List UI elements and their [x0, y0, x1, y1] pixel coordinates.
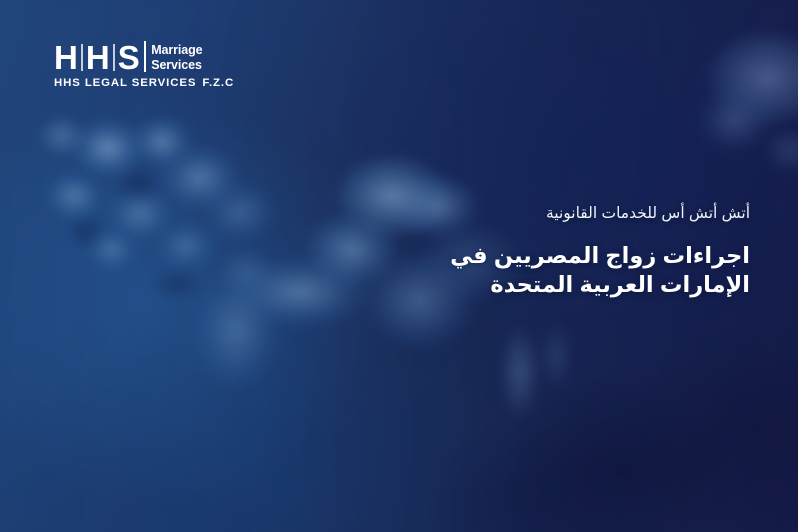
kicker-text: أتش أتش أس للخدمات القانونية — [420, 204, 750, 225]
headline-block: أتش أتش أس للخدمات القانونية اجراءات زوا… — [420, 204, 750, 299]
logo-monogram: H H S — [54, 41, 140, 74]
logo-legal-name: HHS LEGAL SERVICESF.Z.C — [54, 77, 234, 89]
logo-legal-name-main: HHS LEGAL SERVICES — [54, 77, 196, 89]
logo-word-marriage: Marriage — [151, 43, 202, 58]
logo-legal-name-suffix: F.Z.C — [202, 77, 234, 89]
logo-wordmark: Marriage Services — [151, 41, 202, 72]
logo-letter-h1: H — [54, 41, 78, 74]
logo-separator-1 — [81, 44, 83, 71]
logo-separator-2 — [113, 44, 115, 71]
headline-line-2: الإمارات العربية المتحدة — [490, 272, 750, 297]
brand-logo[interactable]: H H S Marriage Services HHS LEGAL SERVIC… — [54, 41, 234, 89]
logo-word-services: Services — [151, 58, 202, 73]
logo-divider-bar — [144, 41, 146, 72]
headline-line-1: اجراءات زواج المصريين في — [450, 243, 750, 268]
logo-primary-row: H H S Marriage Services — [54, 41, 234, 74]
logo-letter-s: S — [118, 41, 141, 74]
headline-title: اجراءات زواج المصريين في الإمارات العربي… — [420, 241, 750, 300]
marketing-banner: H H S Marriage Services HHS LEGAL SERVIC… — [0, 0, 798, 532]
logo-letter-h2: H — [86, 41, 110, 74]
